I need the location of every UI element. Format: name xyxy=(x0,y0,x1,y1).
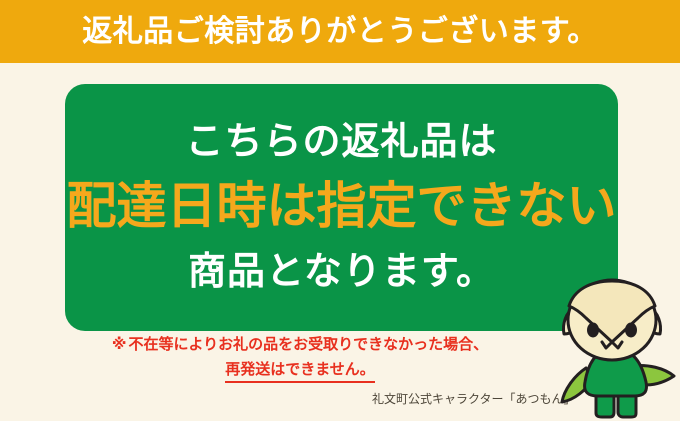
message-line-bottom: 商品となります。 xyxy=(188,253,495,291)
note-line-primary-text: 不在等によりお礼の品をお受取りできなかった場合、 xyxy=(128,336,488,353)
note-block: ※不在等によりお礼の品をお受取りできなかった場合、 再発送はできません。 xyxy=(65,336,535,383)
mascot-left-eye-icon xyxy=(587,323,599,338)
mascot-credit-caption: 礼文町公式キャラクター「あつもん」 xyxy=(372,392,562,406)
asterisk-mark-icon: ※ xyxy=(112,336,129,353)
message-panel: こちらの返礼品は 配達日時は指定できない 商品となります。 xyxy=(65,84,618,331)
message-line-highlight: 配達日時は指定できない xyxy=(67,181,617,231)
header-band: 返礼品ご検討ありがとうございます。 xyxy=(0,0,680,63)
note-line-primary: ※不在等によりお礼の品をお受取りできなかった場合、 xyxy=(65,336,535,355)
mascot-right-eye-icon xyxy=(625,323,637,338)
mascot-atsumon-icon xyxy=(540,272,680,421)
mascot-atsumon-svg xyxy=(540,272,680,421)
message-line-top: こちらの返礼品は xyxy=(185,123,497,161)
header-title: 返礼品ご検討ありがとうございます。 xyxy=(82,17,598,47)
note-line-emphasis: 再発送はできません。 xyxy=(225,361,375,383)
notice-banner: 返礼品ご検討ありがとうございます。 こちらの返礼品は 配達日時は指定できない 商… xyxy=(0,0,680,421)
